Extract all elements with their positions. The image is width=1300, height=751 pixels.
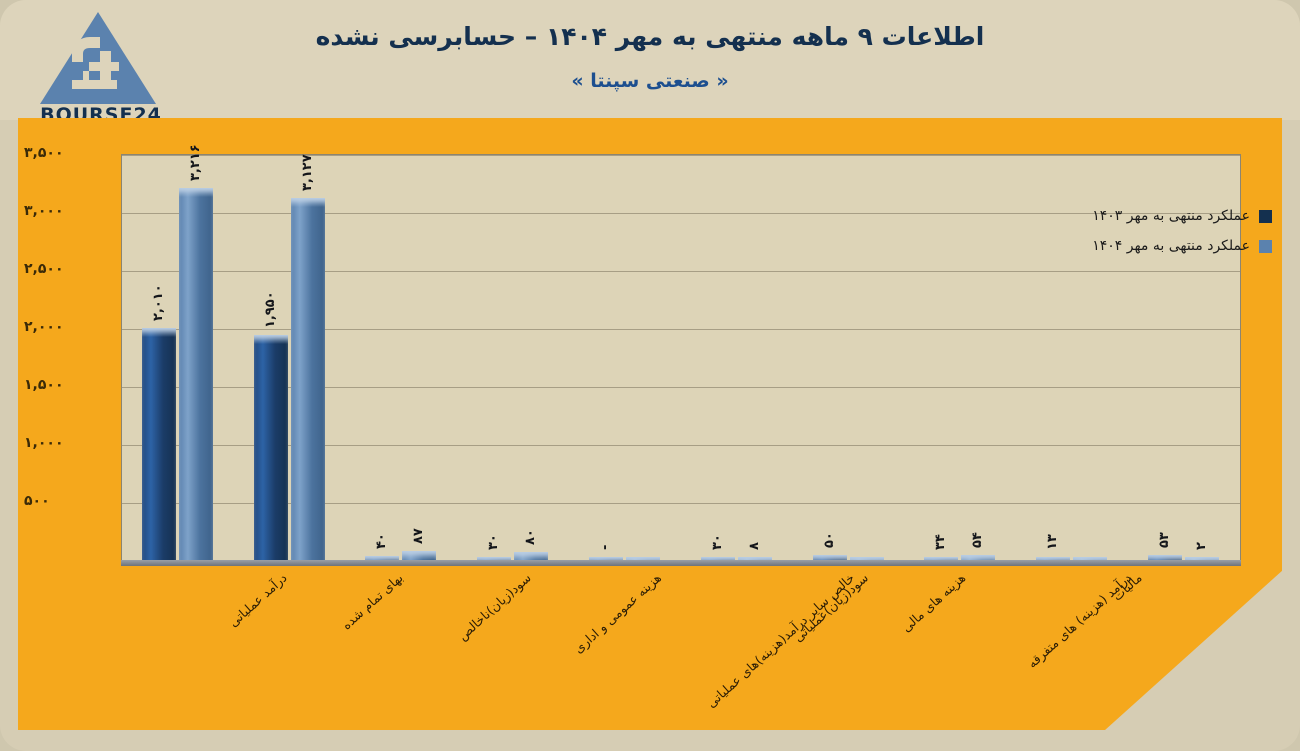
bar-group: ۳۰۸: [681, 155, 793, 561]
bar-value-label: ۱,۹۵۰: [263, 291, 278, 328]
x-axis-tick-label: سود(زیان) خالص: [1236, 570, 1300, 641]
bar-value-label: ۳۰: [710, 534, 725, 550]
bar-value-label: ۸۰: [523, 529, 538, 545]
legend-item-label: عملکرد منتهی به مهر ۱۴۰۴: [1092, 238, 1250, 254]
bar[interactable]: [291, 198, 325, 561]
bar-value-label: ۵۴: [970, 532, 985, 548]
bar-value-label: ۳,۲۱۶: [188, 144, 203, 181]
bar-value-label: ۲,۰۱۰: [151, 284, 166, 321]
bar-value-label: ۵۳: [1157, 532, 1172, 548]
bar-highlight: [142, 328, 176, 337]
bar-highlight: [291, 198, 325, 207]
bar-value-label: ۳,۱۲۷: [300, 155, 315, 192]
bar-highlight: [179, 188, 213, 197]
bar-group: ۳۰۸۰: [457, 155, 569, 561]
x-axis-tick-label: هزینه عمومی و اداری: [571, 570, 664, 656]
x-axis-tick-label: سود(زیان)عملیاتی: [790, 570, 871, 645]
page-subtitle: « صنعتی سپنتا »: [0, 70, 1300, 92]
units-note: ارقام به میلیارد تومان: [993, 699, 1160, 751]
bar-value-label: -: [598, 545, 613, 550]
bar[interactable]: [254, 335, 288, 561]
bar-group: ۱,۹۵۰۳,۱۲۷: [234, 155, 346, 561]
plot-area: ۲,۰۱۰۳,۲۱۶۱,۹۵۰۳,۱۲۷۴۰۸۷۳۰۸۰-۳۰۸۵۰۳۴۵۴۱۳…: [121, 154, 1241, 561]
bourse24-round-badge-icon: [1200, 672, 1254, 726]
x-axis-tick-label: خالص سایر درآمد(هزینه)های عملیاتی: [704, 570, 858, 710]
legend-item[interactable]: عملکرد منتهی به مهر ۱۴۰۳: [942, 201, 1272, 231]
y-axis-tick-label: ۲,۵۰۰: [24, 261, 108, 277]
bar-value-label: ۳۰: [486, 534, 501, 550]
bar-value-label: ۲: [1194, 542, 1209, 550]
bar-value-label: ۱۳: [1045, 534, 1060, 550]
y-axis-tick-label: ۱,۵۰۰: [24, 377, 108, 393]
x-axis-tick-label: سود(زیان)ناخالص: [454, 570, 533, 643]
header-bar: BOURSE24 اطلاعات ۹ ماهه منتهی به مهر ۱۴۰…: [0, 0, 1300, 120]
x-axis-tick-label: مالیات: [1110, 570, 1145, 604]
bar-value-label: ۵۰: [822, 532, 837, 548]
bar-value-label: ۸۷: [411, 528, 426, 544]
bar-value-label: ۳۴: [933, 534, 948, 550]
chart-legend: عملکرد منتهی به مهر ۱۴۰۳عملکرد منتهی به …: [942, 201, 1272, 261]
bar-value-label: ۴۰: [374, 534, 389, 550]
bar[interactable]: [142, 328, 176, 561]
y-axis-tick-label: ۳,۵۰۰: [24, 145, 108, 161]
legend-color-swatch: [1259, 210, 1272, 223]
axis-baseline: [121, 560, 1241, 566]
bar-value-label: ۸: [747, 542, 762, 550]
page-title: اطلاعات ۹ ماهه منتهی به مهر ۱۴۰۴ – حسابر…: [0, 22, 1300, 51]
bar-highlight: [402, 551, 436, 560]
y-axis-tick-label: ۲,۰۰۰: [24, 319, 108, 335]
chart-panel: ۲,۰۱۰۳,۲۱۶۱,۹۵۰۳,۱۲۷۴۰۸۷۳۰۸۰-۳۰۸۵۰۳۴۵۴۱۳…: [18, 118, 1282, 730]
bar[interactable]: [179, 188, 213, 561]
legend-color-swatch: [1259, 240, 1272, 253]
bar-highlight: [254, 335, 288, 344]
legend-item[interactable]: عملکرد منتهی به مهر ۱۴۰۴: [942, 231, 1272, 261]
x-axis-tick-label: بهای تمام شده: [338, 570, 405, 632]
y-axis-tick-label: ۱,۰۰۰: [24, 435, 108, 451]
x-axis-tick-label: هزینه های مالی: [898, 570, 968, 635]
bar-group: ۵۰: [793, 155, 905, 561]
y-axis-tick-label: ۵۰۰: [24, 493, 108, 509]
chart-arrow-icon: [1200, 672, 1254, 726]
legend-item-label: عملکرد منتهی به مهر ۱۴۰۳: [1092, 208, 1250, 224]
bar-group: ۲,۰۱۰۳,۲۱۶: [122, 155, 234, 561]
x-axis-tick-label: درآمد عملیاتی: [226, 570, 290, 630]
report-card: BOURSE24 اطلاعات ۹ ماهه منتهی به مهر ۱۴۰…: [0, 0, 1300, 751]
bar-group: ۴۰۸۷: [346, 155, 458, 561]
bar-group: -: [569, 155, 681, 561]
y-axis-tick-label: ۳,۰۰۰: [24, 203, 108, 219]
